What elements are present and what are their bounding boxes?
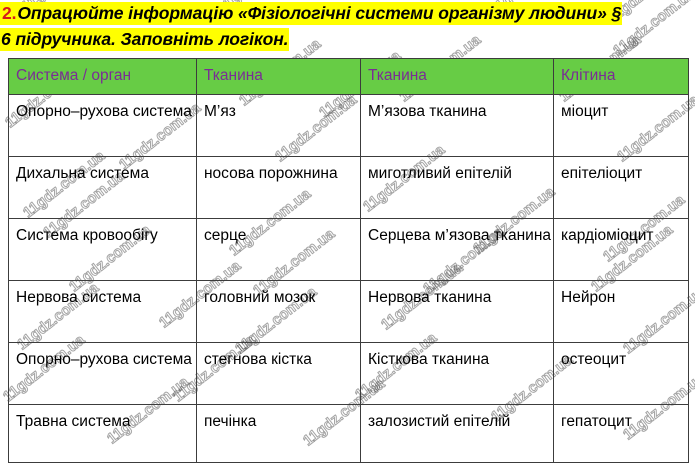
column-header-organ-system: Система / орган [9, 59, 197, 95]
table-row: Дихальна системаносова порожнинамиготлив… [9, 157, 689, 219]
cell-organ-system: Дихальна система [9, 157, 197, 219]
task-heading-line-1: 2.Опрацюйте інформацію «Фізіологічні сис… [0, 0, 695, 26]
cell-cell-type: гепатоцит [554, 405, 689, 463]
cell-organ: М’яз [197, 95, 361, 157]
cell-tissue: миготливий епітелій [361, 157, 554, 219]
logicon-table: Система / орган Тканина Тканина Клітина … [8, 58, 689, 463]
column-header-cell: Клітина [554, 59, 689, 95]
table-row: Опорно–рухова системастегнова кісткаКіст… [9, 343, 689, 405]
table-row: Травна системапечінказалозистий епітелій… [9, 405, 689, 463]
cell-organ-system: Нервова система [9, 281, 197, 343]
cell-cell-type: епітеліоцит [554, 157, 689, 219]
cell-organ-system: Система кровообігу [9, 219, 197, 281]
cell-tissue: Нервова тканина [361, 281, 554, 343]
cell-organ: печінка [197, 405, 361, 463]
cell-tissue: Кісткова тканина [361, 343, 554, 405]
cell-organ: носова порожнина [197, 157, 361, 219]
task-heading-text-2: 6 підручника. Заповніть логікон. [0, 28, 289, 51]
cell-tissue: Серцева м’язова тканина [361, 219, 554, 281]
cell-organ: серце [197, 219, 361, 281]
cell-cell-type: міоцит [554, 95, 689, 157]
table-row: Опорно–рухова системаМ’язМ’язова тканина… [9, 95, 689, 157]
task-heading-text-1: Опрацюйте інформацію «Фізіологічні систе… [16, 2, 622, 25]
cell-organ: головний мозок [197, 281, 361, 343]
task-heading-line-2: 6 підручника. Заповніть логікон. [0, 26, 695, 52]
cell-cell-type: Нейрон [554, 281, 689, 343]
cell-organ-system: Опорно–рухова система [9, 343, 197, 405]
column-header-tissue-1: Тканина [197, 59, 361, 95]
table-row: Система кровообігусерцеСерцева м’язова т… [9, 219, 689, 281]
task-heading: 2.Опрацюйте інформацію «Фізіологічні сис… [0, 0, 695, 52]
cell-organ-system: Опорно–рухова система [9, 95, 197, 157]
cell-organ: стегнова кістка [197, 343, 361, 405]
cell-cell-type: кардіоміоцит [554, 219, 689, 281]
cell-cell-type: остеоцит [554, 343, 689, 405]
table-body: Опорно–рухова системаМ’язМ’язова тканина… [9, 95, 689, 463]
cell-tissue: залозистий епітелій [361, 405, 554, 463]
table-header-row: Система / орган Тканина Тканина Клітина [9, 59, 689, 95]
task-number: 2. [0, 2, 16, 25]
column-header-tissue-2: Тканина [361, 59, 554, 95]
table-row: Нервова системаголовний мозокНервова тка… [9, 281, 689, 343]
cell-organ-system: Травна система [9, 405, 197, 463]
cell-tissue: М’язова тканина [361, 95, 554, 157]
